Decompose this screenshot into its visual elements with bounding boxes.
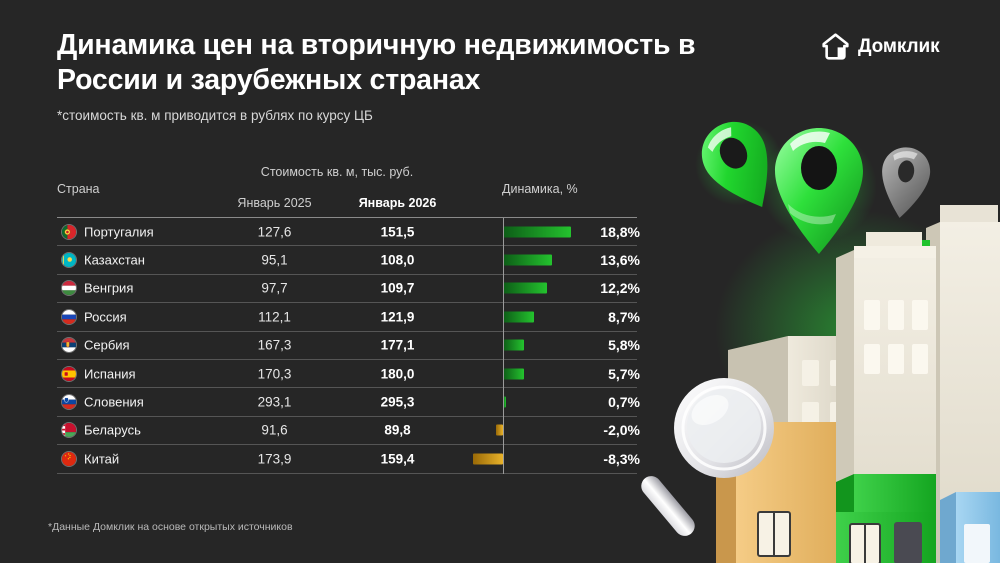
value-january-2026: 109,7 [340,281,455,296]
value-january-2025: 95,1 [217,253,332,268]
dynamics-bar [503,311,534,322]
table-row: Китай173,9159,4-8,3% [57,445,637,473]
zero-axis-line [503,218,504,474]
header-cost-group: Стоимость кв. м, тыс. руб. [187,165,487,179]
table-body: Португалия127,6151,518,8%Казахстан95,110… [57,217,637,474]
map-pin-center-icon [761,128,877,254]
country-name: Казахстан [84,253,145,268]
data-table: Страна Стоимость кв. м, тыс. руб. Январь… [57,165,637,474]
value-january-2026: 151,5 [340,224,455,239]
value-january-2026: 121,9 [340,309,455,324]
country-name: Беларусь [84,423,141,438]
dynamics-bar-cell: 13,6% [485,246,637,273]
domclick-logo[interactable]: Домклик [822,33,939,60]
dynamics-bar [503,340,524,351]
map-pin-right-icon [876,144,933,221]
header-january-2025: Январь 2025 [217,196,332,210]
buildings-group [716,205,1000,563]
value-january-2026: 108,0 [340,253,455,268]
value-january-2025: 293,1 [217,395,332,410]
dynamics-percent: 0,7% [608,394,640,410]
dynamics-bar-cell: 5,8% [485,332,637,359]
flag-kazakhstan [61,252,77,268]
header-dynamics: Динамика, % [502,182,578,196]
page-subtitle: *стоимость кв. м приводится в рублях по … [57,108,373,123]
dynamics-bar [503,226,571,237]
flag-belarus [61,422,77,438]
value-january-2025: 127,6 [217,224,332,239]
value-january-2025: 97,7 [217,281,332,296]
dynamics-bar-cell: 5,7% [485,360,637,387]
value-january-2026: 89,8 [340,423,455,438]
infographic-root: Динамика цен на вторичную недвижимость в… [0,0,1000,563]
value-january-2025: 112,1 [217,309,332,324]
country-name: Испания [84,366,136,381]
dynamics-percent: 5,7% [608,366,640,382]
table-row: Испания170,3180,05,7% [57,360,637,388]
dynamics-bar [503,368,524,379]
value-january-2026: 180,0 [340,366,455,381]
dynamics-bar [496,425,503,436]
value-january-2025: 173,9 [217,451,332,466]
value-january-2026: 159,4 [340,451,455,466]
dynamics-percent: 18,8% [600,224,640,240]
magnifier-icon [640,378,774,540]
country-name: Словения [84,395,144,410]
country-name: Россия [84,309,127,324]
logo-text: Домклик [858,36,939,58]
table-row: Венгрия97,7109,712,2% [57,275,637,303]
dynamics-bar-cell: 18,8% [485,218,637,245]
value-january-2026: 177,1 [340,338,455,353]
dynamics-percent: 12,2% [600,280,640,296]
table-row: Беларусь91,689,8-2,0% [57,417,637,445]
value-january-2025: 167,3 [217,338,332,353]
dynamics-bar-cell: 8,7% [485,303,637,330]
value-january-2025: 91,6 [217,423,332,438]
dynamics-bar-cell: 0,7% [485,388,637,415]
house-pin-icon [822,33,849,60]
table-row: Словения293,1295,30,7% [57,388,637,416]
flag-portugal [61,224,77,240]
country-name: Венгрия [84,281,133,296]
value-january-2026: 295,3 [340,395,455,410]
dynamics-bar-cell: -8,3% [485,445,637,472]
dynamics-percent: -8,3% [603,451,640,467]
dynamics-percent: 13,6% [600,252,640,268]
flag-hungary [61,280,77,296]
table-row: Португалия127,6151,518,8% [57,218,637,246]
flag-russia [61,309,77,325]
header-country: Страна [57,182,100,196]
dynamics-percent: 5,8% [608,337,640,353]
value-january-2025: 170,3 [217,366,332,381]
table-header: Страна Стоимость кв. м, тыс. руб. Январь… [57,165,637,217]
flag-spain [61,366,77,382]
dynamics-bar [503,283,547,294]
country-name: Португалия [84,224,154,239]
page-title: Динамика цен на вторичную недвижимость в… [57,28,797,98]
table-row: Сербия167,3177,15,8% [57,332,637,360]
country-name: Китай [84,451,119,466]
header-january-2026: Январь 2026 [340,196,455,210]
dynamics-bar [503,255,552,266]
country-name: Сербия [84,338,130,353]
dynamics-percent: -2,0% [603,422,640,438]
dynamics-percent: 8,7% [608,309,640,325]
flag-slovenia [61,394,77,410]
dynamics-bar-cell: -2,0% [485,417,637,444]
table-row: Россия112,1121,98,7% [57,303,637,331]
table-row: Казахстан95,1108,013,6% [57,246,637,274]
dynamics-bar [473,453,503,464]
map-pin-left-icon [680,105,801,228]
source-note: *Данные Домклик на основе открытых источ… [48,521,293,533]
dynamics-bar-cell: 12,2% [485,275,637,302]
flag-china [61,451,77,467]
flag-serbia [61,337,77,353]
